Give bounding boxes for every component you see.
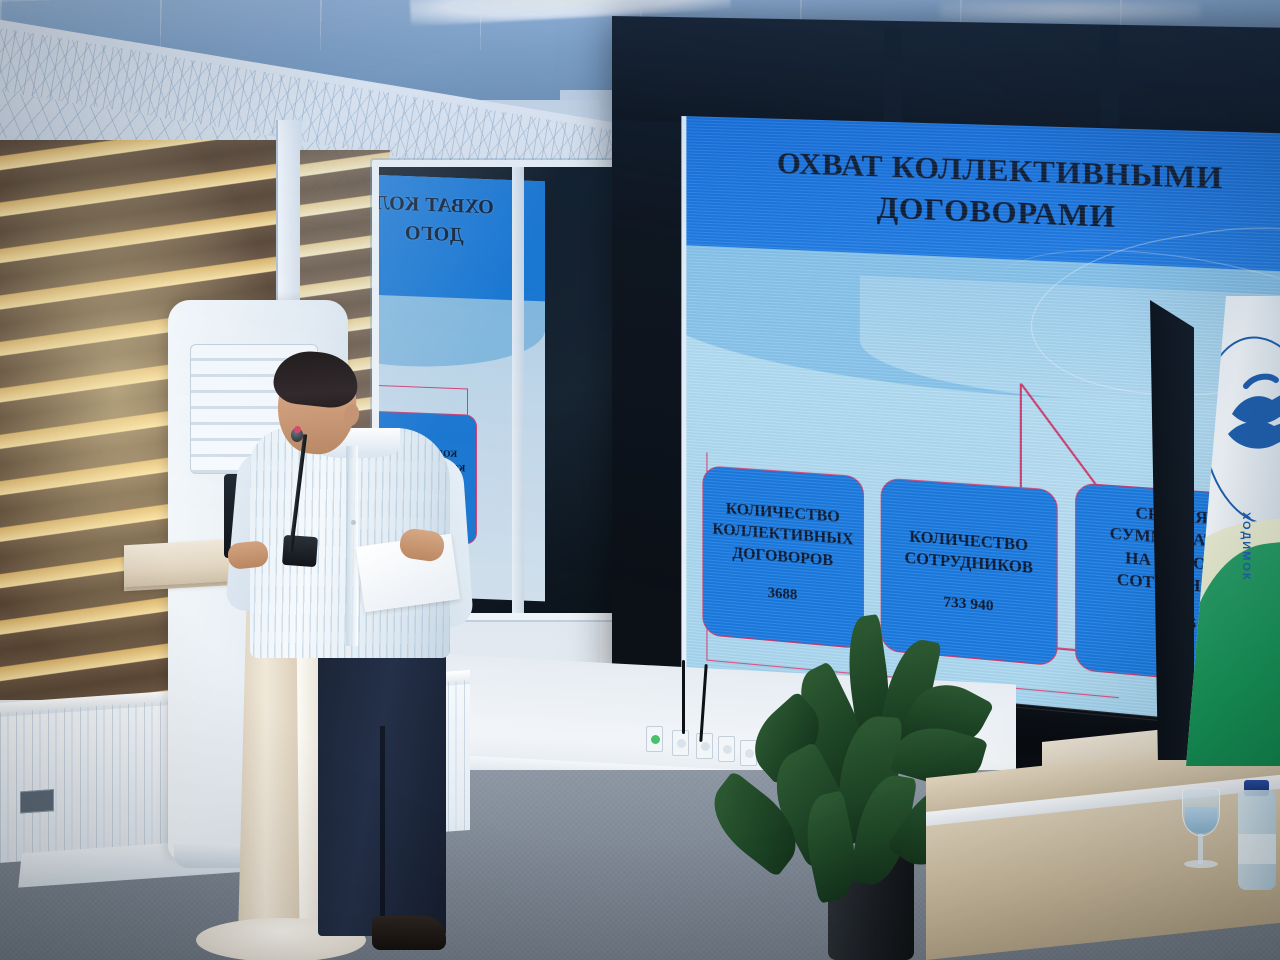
window-mullion bbox=[512, 167, 524, 613]
bottle-label bbox=[1238, 834, 1276, 864]
info-box-contracts-count[interactable]: КОЛИЧЕСТВО КОЛЛЕКТИВНЫХ ДОГОВОРОВ 3688 bbox=[702, 465, 864, 649]
power-cable-1 bbox=[682, 660, 685, 734]
info-box-value: 733 940 bbox=[890, 587, 1048, 621]
flag-text-label: ХОДИМОК bbox=[1240, 512, 1252, 632]
ceiling-light-fixture-secondary bbox=[940, 0, 1200, 22]
glass-foot bbox=[1184, 860, 1218, 868]
shirt-button bbox=[351, 520, 356, 525]
speaker-shoe bbox=[372, 916, 446, 950]
radiator-vent bbox=[20, 789, 54, 813]
led-mount-strut-right bbox=[1100, 25, 1119, 127]
water-bottle[interactable] bbox=[1238, 790, 1276, 890]
info-box-value: 3688 bbox=[711, 578, 854, 610]
microphone-base[interactable] bbox=[282, 535, 318, 567]
glass-water-fill bbox=[1185, 807, 1217, 833]
handshake-emblem-icon bbox=[1216, 356, 1280, 476]
speaker-legs bbox=[318, 616, 446, 936]
power-socket-1[interactable] bbox=[646, 726, 663, 752]
microphone-indicator-led bbox=[294, 426, 301, 433]
power-socket-2[interactable] bbox=[672, 730, 689, 756]
leg-seam bbox=[380, 726, 385, 936]
conference-room-scene: ОХВАТ КОЛДОГО КОЛИЧЕСТВО КОЛЛЕКТИВНЫХ ДО… bbox=[0, 0, 1280, 960]
water-glass[interactable] bbox=[1182, 788, 1220, 836]
